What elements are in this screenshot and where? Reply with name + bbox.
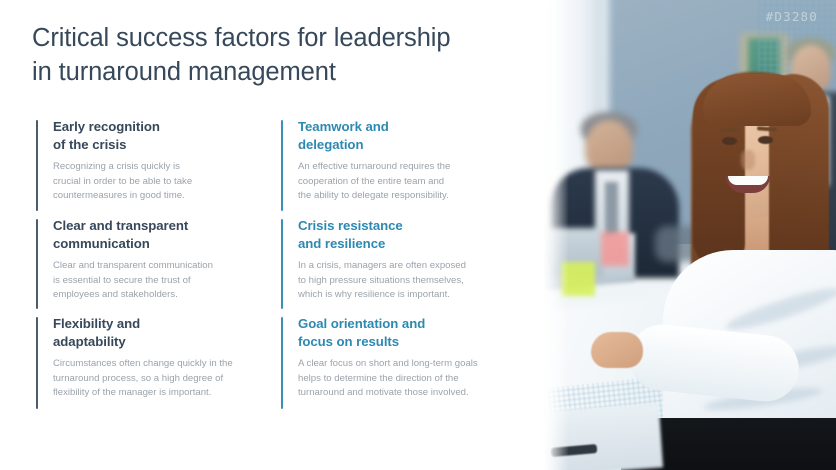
factor-heading-line-1: Teamwork and	[298, 118, 516, 136]
photo-woman-eye-left	[722, 137, 737, 145]
factor-heading-line-1: Clear and transparent	[53, 217, 281, 235]
factor-body-line-2: crucial in order to be able to take	[53, 175, 281, 189]
factor-card-goal-orientation: Goal orientation and focus on results A …	[281, 315, 516, 415]
factor-body-line-1: Clear and transparent communication	[53, 259, 281, 273]
factor-heading: Clear and transparent communication	[53, 217, 281, 252]
factor-body-line-1: In a crisis, managers are often exposed	[298, 259, 516, 273]
factor-body-line-3: the ability to delegate responsibility.	[298, 189, 516, 203]
factor-heading: Flexibility and adaptability	[53, 315, 281, 350]
factor-heading: Early recognition of the crisis	[53, 118, 281, 153]
factor-body: A clear focus on short and long-term goa…	[298, 357, 516, 400]
factor-heading-line-2: focus on results	[298, 333, 516, 351]
factor-body-line-2: helps to determine the direction of the	[298, 372, 516, 386]
factor-heading-line-1: Goal orientation and	[298, 315, 516, 333]
accent-bar	[281, 120, 283, 211]
accent-bar	[36, 120, 38, 211]
factor-heading-line-2: communication	[53, 235, 281, 253]
factor-body: Clear and transparent communication is e…	[53, 259, 281, 302]
factor-card-teamwork-delegation: Teamwork and delegation An effective tur…	[281, 118, 516, 217]
factor-body-line-1: A clear focus on short and long-term goa…	[298, 357, 516, 371]
factor-body-line-3: which is why resilience is important.	[298, 288, 516, 302]
factor-card-flexibility-adaptability: Flexibility and adaptability Circumstanc…	[36, 315, 281, 415]
photo-woman-hair-top	[703, 74, 811, 126]
factor-card-early-recognition: Early recognition of the crisis Recogniz…	[36, 118, 281, 217]
factor-body-line-2: to high pressure situations themselves,	[298, 274, 516, 288]
photo-woman-teeth	[728, 176, 768, 185]
factor-body-line-2: is essential to secure the trust of	[53, 274, 281, 288]
factor-heading-line-2: of the crisis	[53, 136, 281, 154]
slide: Critical success factors for leadership …	[0, 0, 836, 470]
accent-bar	[36, 317, 38, 409]
photo-woman-hand-upper	[591, 332, 643, 368]
factor-body-line-2: cooperation of the entire team and	[298, 175, 516, 189]
factor-heading: Goal orientation and focus on results	[298, 315, 516, 350]
accent-bar	[36, 219, 38, 309]
photo-woman-nose	[741, 150, 755, 170]
factor-heading: Teamwork and delegation	[298, 118, 516, 153]
factor-heading-line-1: Crisis resistance	[298, 217, 516, 235]
factor-heading-line-1: Early recognition	[53, 118, 281, 136]
factor-body-line-1: Circumstances often change quickly in th…	[53, 357, 281, 371]
factor-heading-line-2: delegation	[298, 136, 516, 154]
factor-body-line-1: Recognizing a crisis quickly is	[53, 160, 281, 174]
factor-body: Recognizing a crisis quickly is crucial …	[53, 160, 281, 203]
factor-heading-line-2: adaptability	[53, 333, 281, 351]
factor-body-line-3: turnaround and motivate those involved.	[298, 386, 516, 400]
factor-body-line-2: turnaround process, so a high degree of	[53, 372, 281, 386]
factors-grid: Early recognition of the crisis Recogniz…	[36, 118, 516, 415]
accent-bar	[281, 219, 283, 309]
accent-bar	[281, 317, 283, 409]
factor-heading-line-1: Flexibility and	[53, 315, 281, 333]
hero-photo: #D3280	[543, 0, 836, 470]
factor-card-clear-communication: Clear and transparent communication Clea…	[36, 217, 281, 315]
page-title: Critical success factors for leadership …	[32, 22, 512, 90]
factor-heading: Crisis resistance and resilience	[298, 217, 516, 252]
photo-left-fade	[543, 0, 569, 470]
page-title-line-2: in turnaround management	[32, 56, 512, 90]
factor-body: In a crisis, managers are often exposed …	[298, 259, 516, 302]
factor-body-line-3: employees and stakeholders.	[53, 288, 281, 302]
factor-heading-line-2: and resilience	[298, 235, 516, 253]
factor-body-line-3: flexibility of the manager is important.	[53, 386, 281, 400]
page-title-line-1: Critical success factors for leadership	[32, 22, 512, 56]
photo-sticky-note-pink	[601, 232, 629, 266]
factor-card-crisis-resilience: Crisis resistance and resilience In a cr…	[281, 217, 516, 315]
factor-body: Circumstances often change quickly in th…	[53, 357, 281, 400]
photo-woman-eye-right	[758, 136, 773, 144]
watermark: #D3280	[766, 9, 818, 24]
factor-body-line-3: countermeasures in good time.	[53, 189, 281, 203]
factor-body: An effective turnaround requires the coo…	[298, 160, 516, 203]
factor-body-line-1: An effective turnaround requires the	[298, 160, 516, 174]
